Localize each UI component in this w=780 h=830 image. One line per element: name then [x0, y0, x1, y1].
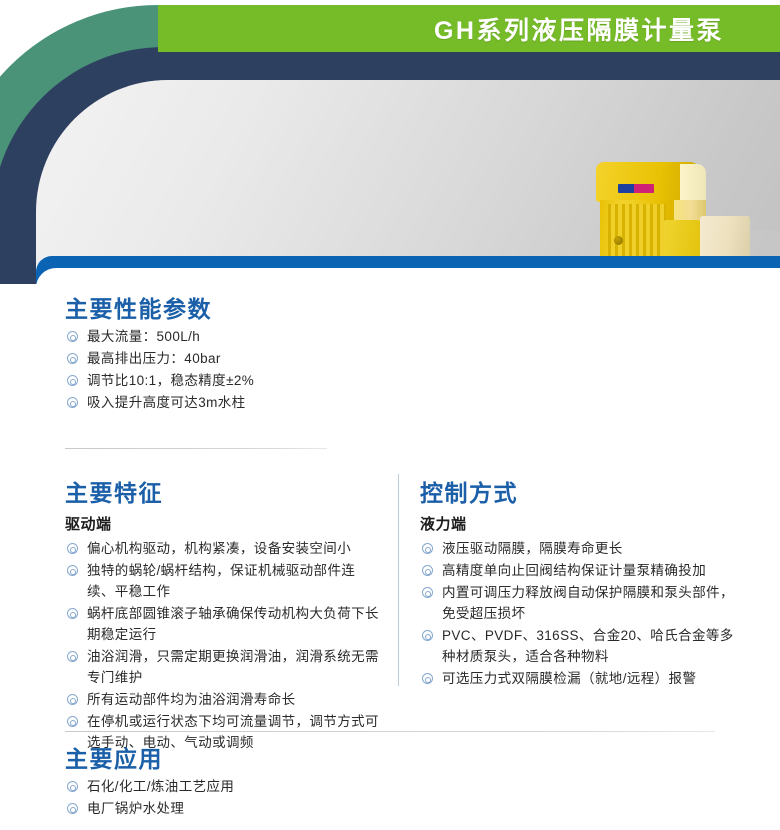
list-item-text: PVC、PVDF、316SS、合金20、哈氏合金等多种材质泵头，适合各种物料	[442, 628, 734, 664]
bullet-circle-icon	[67, 565, 78, 576]
list-item: 所有运动部件均为油浴润滑寿命长	[65, 689, 383, 710]
motor-brand-label	[618, 184, 654, 193]
bullet-circle-icon	[422, 565, 433, 576]
control-section: 控制方式 液力端 液压驱动隔膜，隔膜寿命更长 高精度单向止回阀结构保证计量泵精确…	[420, 480, 738, 689]
bullet-circle-icon	[422, 543, 433, 554]
bullet-circle-icon	[67, 353, 78, 364]
list-item: 独特的蜗轮/蜗杆结构，保证机械驱动部件连续、平稳工作	[65, 560, 383, 602]
list-item: 吸入提升高度可达3m水柱	[65, 392, 385, 413]
bullet-circle-icon	[67, 331, 78, 342]
bullet-circle-icon	[67, 803, 78, 814]
motor-bolt	[614, 236, 623, 245]
list-item: 电厂锅炉水处理	[65, 798, 485, 819]
list-item: 石化/化工/炼油工艺应用	[65, 776, 485, 797]
list-item-text: 最大流量：500L/h	[87, 329, 200, 344]
applications-heading: 主要应用	[65, 746, 485, 772]
list-item-text: 油浴润滑，只需定期更换润滑油，润滑系统无需专门维护	[87, 649, 379, 685]
applications-section: 主要应用 石化/化工/炼油工艺应用 电厂锅炉水处理	[65, 746, 485, 819]
bullet-circle-icon	[67, 716, 78, 727]
list-item-text: 偏心机构驱动，机构紧凑，设备安装空间小	[87, 541, 351, 556]
list-item-text: 高精度单向止回阀结构保证计量泵精确投加	[442, 563, 706, 578]
product-photo-panel	[36, 80, 780, 284]
list-item: 内置可调压力释放阀自动保护隔膜和泵头部件，免受超压损坏	[420, 582, 738, 624]
features-heading: 主要特征	[65, 480, 383, 506]
bullet-circle-icon	[67, 543, 78, 554]
list-item-text: 独特的蜗轮/蜗杆结构，保证机械驱动部件连续、平稳工作	[87, 563, 355, 599]
list-item: 蜗杆底部圆锥滚子轴承确保传动机构大负荷下长期稳定运行	[65, 603, 383, 645]
list-item: 高精度单向止回阀结构保证计量泵精确投加	[420, 560, 738, 581]
bullet-circle-icon	[67, 694, 78, 705]
title-bar: GH系列液压隔膜计量泵	[158, 5, 780, 52]
list-item-text: 石化/化工/炼油工艺应用	[87, 779, 234, 794]
features-list: 偏心机构驱动，机构紧凑，设备安装空间小 独特的蜗轮/蜗杆结构，保证机械驱动部件连…	[65, 538, 383, 753]
performance-section: 主要性能参数 最大流量：500L/h 最高排出压力：40bar 调节比10:1，…	[65, 296, 385, 413]
motor-top-highlight	[680, 164, 706, 202]
list-item-text: 蜗杆底部圆锥滚子轴承确保传动机构大负荷下长期稳定运行	[87, 606, 379, 642]
bullet-circle-icon	[67, 397, 78, 408]
product-datasheet-page: GH系列液压隔膜计量泵 主要性能参数 最大流量：500L/h 最高排出压力：40…	[0, 0, 780, 830]
control-list: 液压驱动隔膜，隔膜寿命更长 高精度单向止回阀结构保证计量泵精确投加 内置可调压力…	[420, 538, 738, 689]
performance-list: 最大流量：500L/h 最高排出压力：40bar 调节比10:1，稳态精度±2%…	[65, 326, 385, 413]
bullet-circle-icon	[67, 608, 78, 619]
features-section: 主要特征 驱动端 偏心机构驱动，机构紧凑，设备安装空间小 独特的蜗轮/蜗杆结构，…	[65, 480, 383, 753]
list-item: 最大流量：500L/h	[65, 326, 385, 347]
list-item-text: 最高排出压力：40bar	[87, 351, 221, 366]
bullet-circle-icon	[422, 587, 433, 598]
list-item-text: 可选压力式双隔膜检漏（就地/远程）报警	[442, 671, 696, 686]
bullet-circle-icon	[422, 673, 433, 684]
banner-zone: GH系列液压隔膜计量泵	[0, 0, 780, 284]
divider-above-features	[65, 448, 327, 449]
list-item-text: 调节比10:1，稳态精度±2%	[87, 373, 254, 388]
column-divider	[398, 474, 399, 686]
list-item-text: 液压驱动隔膜，隔膜寿命更长	[442, 541, 623, 556]
list-item-text: 内置可调压力释放阀自动保护隔膜和泵头部件，免受超压损坏	[442, 585, 734, 621]
performance-heading: 主要性能参数	[65, 296, 385, 322]
list-item: PVC、PVDF、316SS、合金20、哈氏合金等多种材质泵头，适合各种物料	[420, 625, 738, 667]
bullet-circle-icon	[67, 781, 78, 792]
control-subheading: 液力端	[420, 513, 738, 534]
list-item: 液压驱动隔膜，隔膜寿命更长	[420, 538, 738, 559]
list-item-text: 所有运动部件均为油浴润滑寿命长	[87, 692, 296, 707]
list-item-text: 吸入提升高度可达3m水柱	[87, 395, 246, 410]
ribbon-mask	[36, 268, 780, 284]
page-title: GH系列液压隔膜计量泵	[434, 11, 724, 47]
applications-list: 石化/化工/炼油工艺应用 电厂锅炉水处理	[65, 776, 485, 819]
list-item: 油浴润滑，只需定期更换润滑油，润滑系统无需专门维护	[65, 646, 383, 688]
features-subheading: 驱动端	[65, 513, 383, 534]
divider-above-applications	[65, 731, 715, 732]
control-heading: 控制方式	[420, 480, 738, 506]
bullet-circle-icon	[422, 630, 433, 641]
bullet-circle-icon	[67, 651, 78, 662]
list-item: 最高排出压力：40bar	[65, 348, 385, 369]
list-item: 偏心机构驱动，机构紧凑，设备安装空间小	[65, 538, 383, 559]
list-item-text: 电厂锅炉水处理	[87, 801, 184, 816]
bullet-circle-icon	[67, 375, 78, 386]
list-item: 可选压力式双隔膜检漏（就地/远程）报警	[420, 668, 738, 689]
list-item: 调节比10:1，稳态精度±2%	[65, 370, 385, 391]
